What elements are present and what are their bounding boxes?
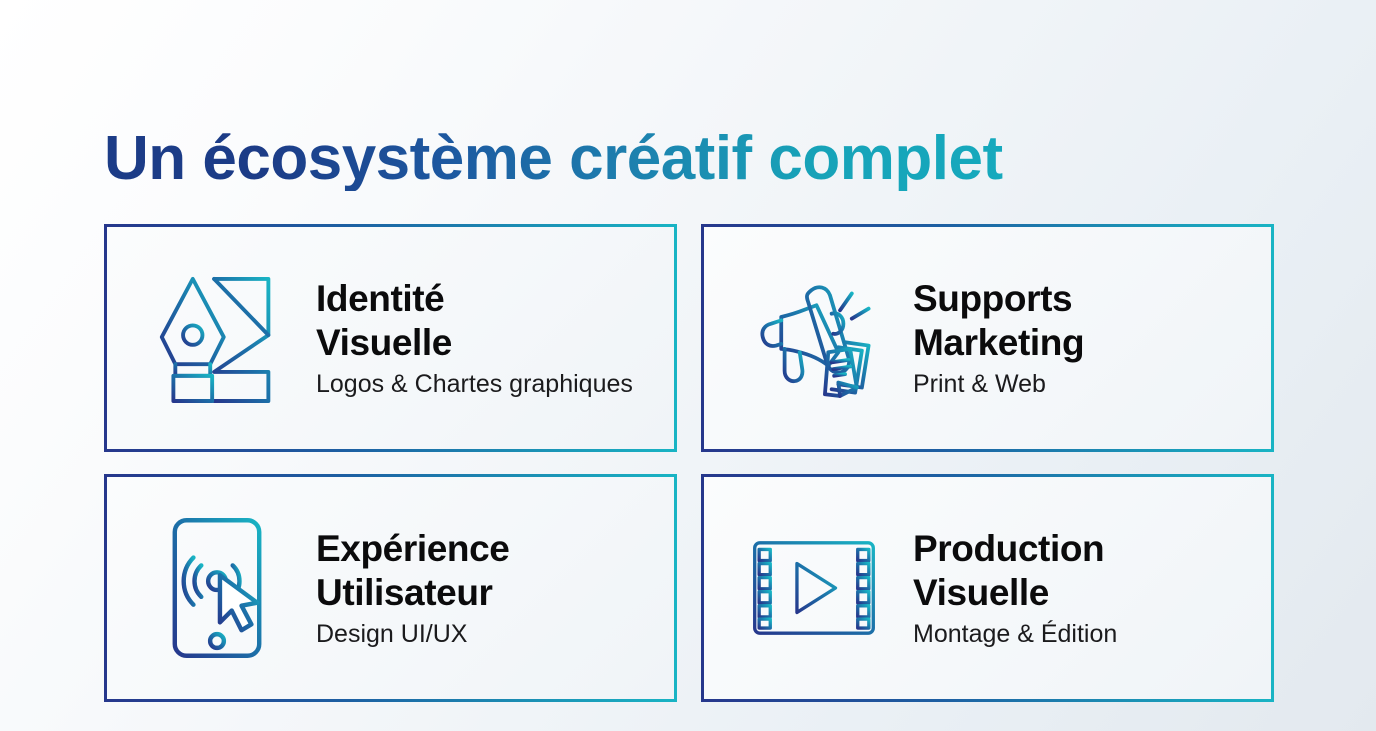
- film-strip-play-icon: [751, 513, 877, 663]
- card-subtitle: Print & Web: [913, 369, 1251, 399]
- card-text: Identité Visuelle Logos & Chartes graphi…: [316, 277, 654, 398]
- service-card-grid: Identité Visuelle Logos & Chartes graphi…: [104, 224, 1274, 702]
- card-text: Expérience Utilisateur Design UI/UX: [316, 527, 654, 648]
- card-title: Identité Visuelle: [316, 277, 654, 364]
- card-inner: Supports Marketing Print & Web: [704, 227, 1271, 449]
- card-supports-marketing[interactable]: Supports Marketing Print & Web: [701, 224, 1274, 452]
- megaphone-documents-icon: [751, 263, 877, 413]
- card-identite-visuelle[interactable]: Identité Visuelle Logos & Chartes graphi…: [104, 224, 677, 452]
- card-title: Supports Marketing: [913, 277, 1251, 364]
- card-text: Production Visuelle Montage & Édition: [913, 527, 1251, 648]
- card-inner: Identité Visuelle Logos & Chartes graphi…: [107, 227, 674, 449]
- card-title: Production Visuelle: [913, 527, 1251, 614]
- card-title: Expérience Utilisateur: [316, 527, 654, 614]
- smartphone-touch-cursor-icon: [154, 513, 280, 663]
- pen-nib-icon: [154, 263, 280, 413]
- card-production-visuelle[interactable]: Production Visuelle Montage & Édition: [701, 474, 1274, 702]
- card-subtitle: Design UI/UX: [316, 619, 654, 649]
- page-title: Un écosystème créatif complet: [104, 126, 1003, 191]
- card-text: Supports Marketing Print & Web: [913, 277, 1251, 398]
- card-subtitle: Logos & Chartes graphiques: [316, 369, 654, 399]
- card-inner: Expérience Utilisateur Design UI/UX: [107, 477, 674, 699]
- card-inner: Production Visuelle Montage & Édition: [704, 477, 1271, 699]
- card-subtitle: Montage & Édition: [913, 619, 1251, 649]
- card-experience-utilisateur[interactable]: Expérience Utilisateur Design UI/UX: [104, 474, 677, 702]
- slide-canvas: Un écosystème créatif complet: [0, 0, 1376, 731]
